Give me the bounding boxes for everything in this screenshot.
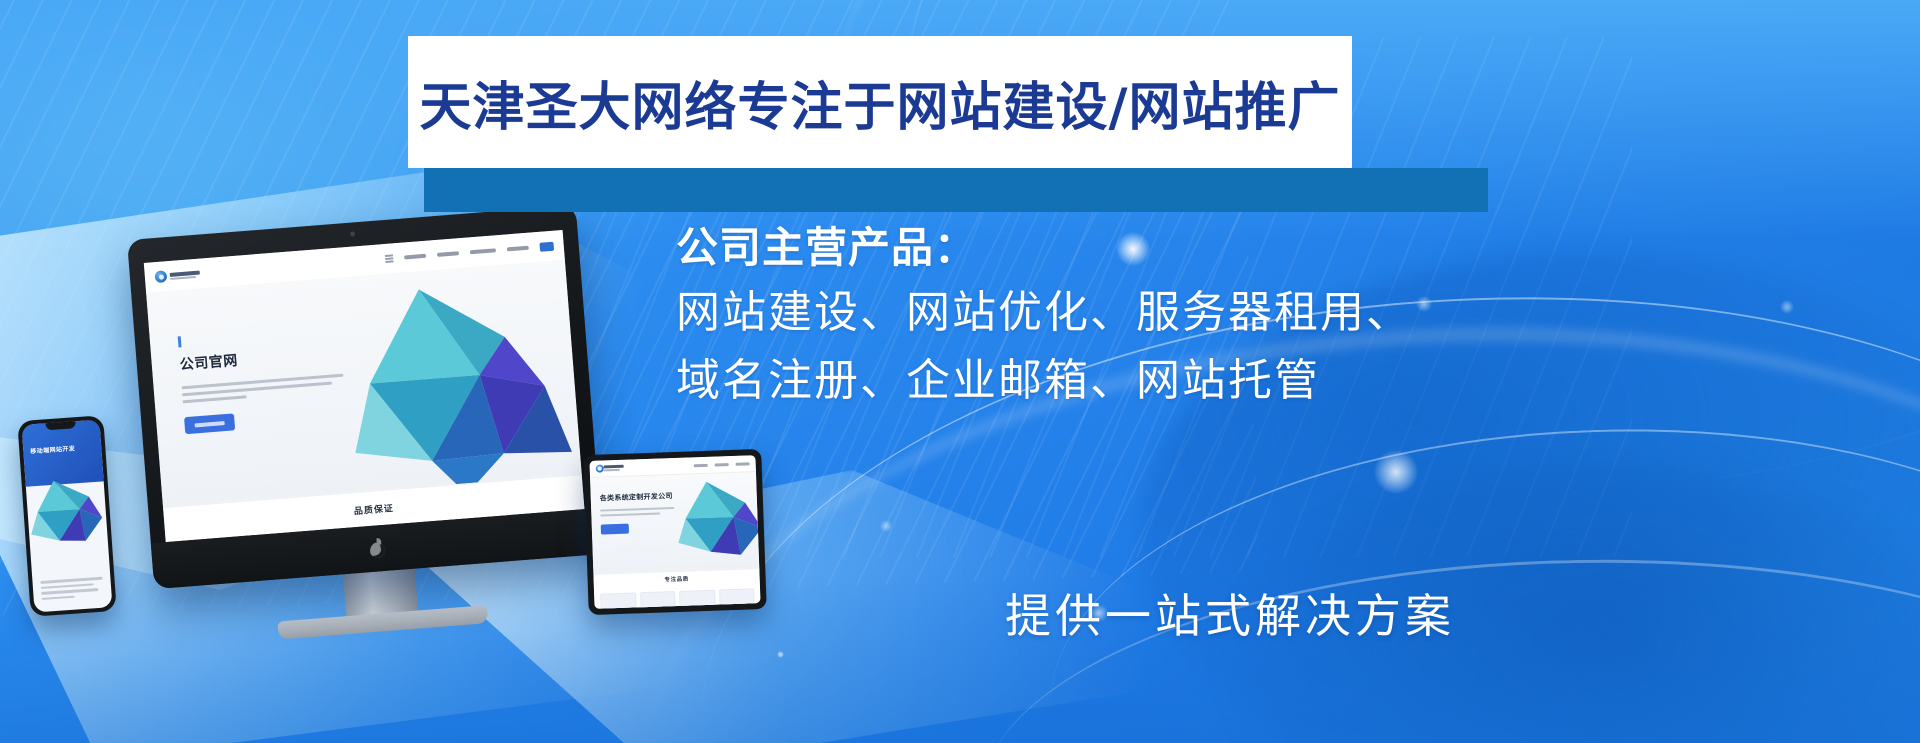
tablet-nav-item-1[interactable] [694,463,708,466]
glow-dot-9 [880,520,892,532]
tablet-screen: 各类系统定制开发公司 专注品质 [589,455,760,609]
copy-line-2: 域名注册、企业邮箱、网站托管 [676,347,1876,415]
iphone-hero-heading: 移动端网站开发 [30,443,75,455]
glow-dot-8 [778,652,783,657]
apple-logo-icon [368,538,387,559]
headline-accent-bar [424,168,1488,212]
tablet-cta-button[interactable] [601,523,629,534]
tablet-hero-heading: 各类系统定制开发公司 [600,491,676,504]
nav-item-3[interactable] [470,248,496,254]
hero-paragraph [182,373,351,403]
tablet-hero: 各类系统定制开发公司 [590,472,759,574]
logo-mark-icon [596,464,604,472]
company-logo-icon [154,268,200,283]
glow-dot-3 [1374,450,1418,494]
hero-heading: 公司官网 [179,341,348,374]
imac-mockup: 公司官网 品质保证 [127,205,603,589]
tablet-mockup: 各类系统定制开发公司 专注品质 [583,449,766,615]
site-hero: 公司官网 [146,260,582,508]
logo-mark-icon [154,270,167,283]
site-footer-label: 品质保证 [353,501,394,517]
tablet-nav-items [694,462,750,467]
tablet-copy-block: 各类系统定制开发公司 [600,491,677,534]
nav-item-2[interactable] [437,251,459,257]
tablet-nav-item-3[interactable] [736,462,750,465]
site-nav-items [385,241,554,263]
tablet-card-3[interactable] [679,590,715,607]
page-title: 天津圣大网络专注于网站建设/网站推广 [420,65,1341,140]
iphone-screen: 移动端网站开发 [22,420,113,613]
logo-wordmark [604,465,624,471]
tagline: 提供一站式解决方案 [1005,580,1455,646]
banner-canvas: 公司官网 品质保证 移动端网站开发 [0,0,1920,743]
marketing-copy: 公司主营产品： 网站建设、网站优化、服务器租用、 域名注册、企业邮箱、网站托管 [676,218,1876,415]
tablet-polygon-art [674,476,759,571]
logo-wordmark [170,270,200,279]
hero-cta-button[interactable] [184,413,235,434]
hero-copy-block: 公司官网 [178,323,353,434]
tablet-footer-label: 专注品质 [664,575,689,584]
iphone-paragraph [40,577,103,600]
nav-item-1[interactable] [404,254,426,260]
hamburger-icon[interactable] [385,255,394,263]
copy-line-1: 网站建设、网站优化、服务器租用、 [676,279,1876,347]
tablet-card-4[interactable] [719,588,755,605]
copy-title: 公司主营产品： [676,218,1876,279]
iphone-polygon-art [25,471,108,552]
hero-accent-tick [178,336,182,347]
imac-screen: 公司官网 品质保证 [144,230,585,542]
background-bottom-shade [0,573,1920,743]
hero-polygon-art [323,272,582,508]
tablet-card-2[interactable] [640,591,676,608]
headline-box: 天津圣大网络专注于网站建设/网站推广 [408,36,1352,168]
tablet-paragraph [600,507,676,516]
tablet-card-1[interactable] [600,592,636,608]
nav-action-button[interactable] [539,241,554,251]
tablet-nav-item-2[interactable] [715,463,729,466]
nav-item-4[interactable] [507,246,529,252]
iphone-mockup: 移动端网站开发 [17,415,116,617]
